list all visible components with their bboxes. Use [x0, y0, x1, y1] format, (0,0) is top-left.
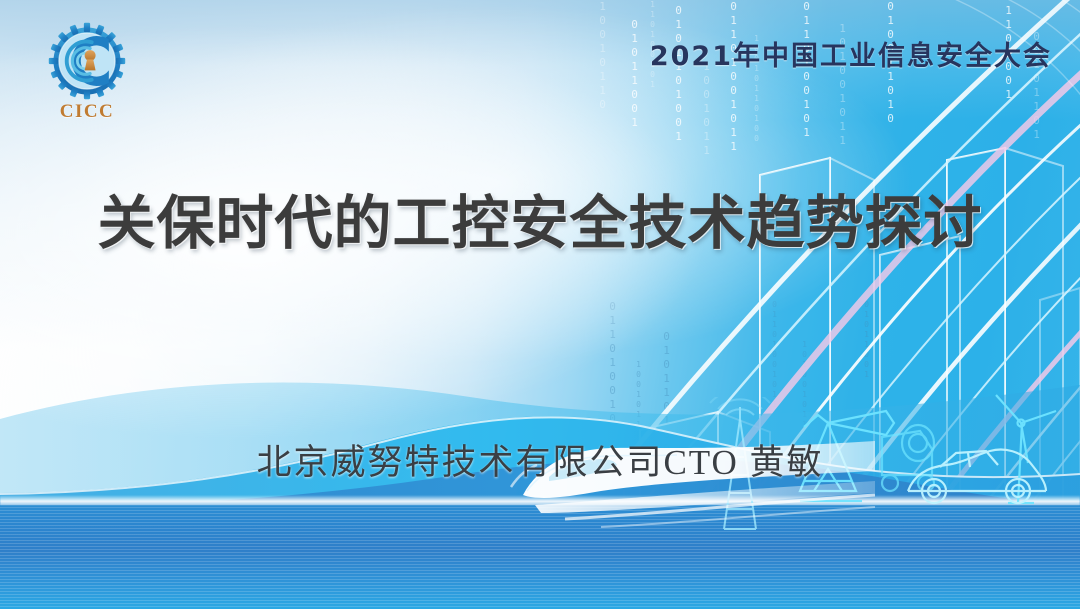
conference-name: 2021年中国工业信息安全大会 — [650, 34, 1052, 73]
page-title: 关保时代的工控安全技术趋势探讨 — [0, 176, 1080, 260]
presenter-line: 北京威努特技术有限公司CTO 黄敏 — [0, 434, 1080, 485]
title-slide: 10010110 01011001 110100101 0101101001 1… — [0, 0, 1080, 609]
cicc-logo-mark — [48, 22, 126, 100]
cicc-logo-wordmark: CICC — [42, 101, 132, 123]
cicc-logo: CICC — [42, 22, 132, 122]
background-haze — [0, 0, 1080, 609]
